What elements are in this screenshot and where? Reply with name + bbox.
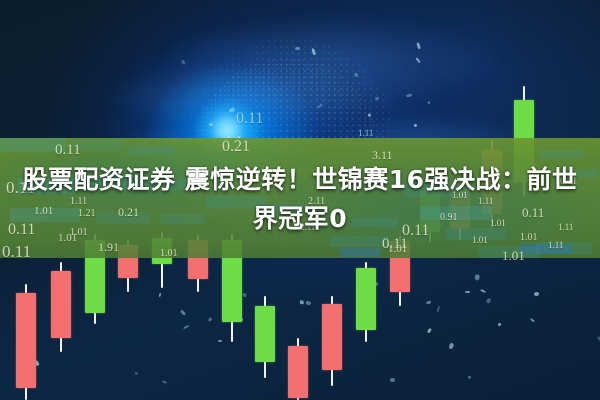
ticker-number: 0.11 (55, 142, 81, 159)
ticker-number: 1.11 (548, 240, 563, 250)
ticker-number: 1.11 (358, 128, 373, 138)
ticker-number: 1.01 (502, 248, 525, 264)
banner-image: 0.110.111.010.111.110.111.011.011.211.91… (0, 0, 600, 400)
ticker-number: 1.91 (98, 240, 119, 255)
ticker-number: 0.11 (2, 242, 31, 262)
ticker-number: 0.11 (236, 110, 263, 128)
ticker-number: 0.21 (222, 138, 250, 156)
ticker-number: 1.01 (388, 243, 407, 255)
ticker-number: 1.01 (160, 248, 178, 259)
headline-text: 股票配资证券 震惊逆转！世锦赛16强决战：前世 界冠军0 (0, 160, 600, 238)
